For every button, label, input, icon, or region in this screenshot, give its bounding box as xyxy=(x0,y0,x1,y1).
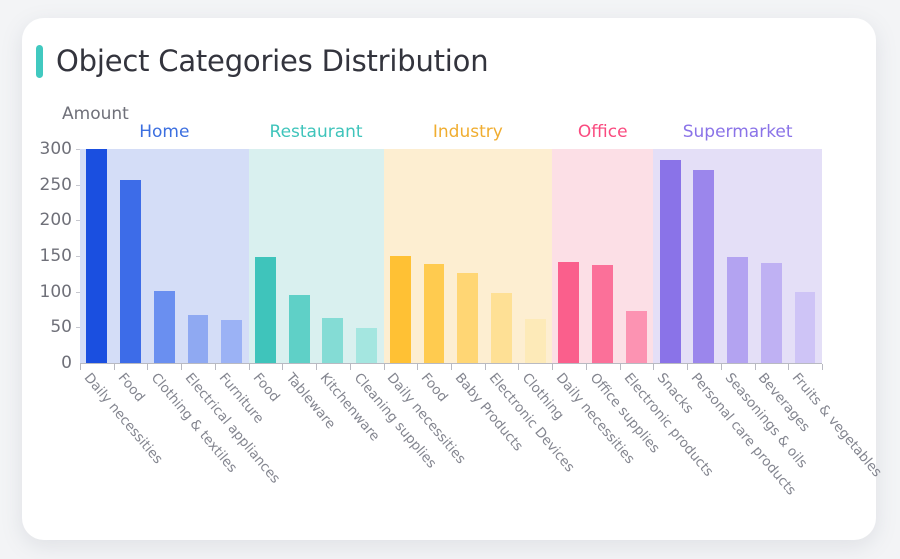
bar[interactable] xyxy=(626,311,647,363)
bar-slot[interactable] xyxy=(80,149,114,363)
bar[interactable] xyxy=(525,319,546,363)
bar[interactable] xyxy=(457,273,478,363)
bar-slot[interactable] xyxy=(350,149,384,363)
x-tick-label: Food xyxy=(114,370,147,405)
bar[interactable] xyxy=(693,170,714,363)
bar[interactable] xyxy=(390,256,411,363)
bar[interactable] xyxy=(289,295,310,363)
chart-area: Amount HomeRestaurantIndustryOfficeSuper… xyxy=(22,18,876,540)
bar[interactable] xyxy=(660,160,681,363)
bar-slot[interactable] xyxy=(249,149,283,363)
bar[interactable] xyxy=(761,263,782,363)
bar-slot[interactable] xyxy=(383,149,417,363)
bar-slot[interactable] xyxy=(282,149,316,363)
bar-slot[interactable] xyxy=(721,149,755,363)
bar[interactable] xyxy=(120,180,141,363)
bar-slot[interactable] xyxy=(451,149,485,363)
x-tick-label: Food xyxy=(249,370,282,405)
bar-slot[interactable] xyxy=(518,149,552,363)
bar[interactable] xyxy=(592,265,613,363)
plot-region xyxy=(80,149,822,363)
bar-slot[interactable] xyxy=(181,149,215,363)
bar-slot[interactable] xyxy=(788,149,822,363)
group-legend: HomeRestaurantIndustryOfficeSupermarket xyxy=(80,122,822,146)
bar-slot[interactable] xyxy=(147,149,181,363)
bar-slot[interactable] xyxy=(586,149,620,363)
group-label-office: Office xyxy=(552,122,653,142)
bar-slot[interactable] xyxy=(754,149,788,363)
bar[interactable] xyxy=(255,257,276,363)
y-tick-label: 100 xyxy=(22,282,72,302)
group-label-restaurant: Restaurant xyxy=(249,122,384,142)
bar-slot[interactable] xyxy=(620,149,654,363)
group-label-home: Home xyxy=(80,122,249,142)
bar-slot[interactable] xyxy=(552,149,586,363)
bar[interactable] xyxy=(558,262,579,363)
group-label-industry: Industry xyxy=(384,122,553,142)
bar-slot[interactable] xyxy=(215,149,249,363)
x-axis-tick-labels: Daily necessitiesFoodClothing & textiles… xyxy=(80,370,822,530)
bar-slot[interactable] xyxy=(316,149,350,363)
y-axis-tick-labels: 050100150200250300 xyxy=(22,149,72,363)
bar[interactable] xyxy=(322,318,343,363)
y-tick-label: 150 xyxy=(22,246,72,266)
bar-slot[interactable] xyxy=(114,149,148,363)
bar-slot[interactable] xyxy=(687,149,721,363)
bar[interactable] xyxy=(86,149,107,363)
bar-slot[interactable] xyxy=(485,149,519,363)
bar[interactable] xyxy=(188,315,209,363)
bar-slot[interactable] xyxy=(417,149,451,363)
y-tick-label: 50 xyxy=(22,317,72,337)
y-tick-label: 200 xyxy=(22,210,72,230)
bar[interactable] xyxy=(491,293,512,363)
y-axis-title: Amount xyxy=(62,104,129,124)
chart-card: Object Categories Distribution Amount Ho… xyxy=(22,18,876,540)
y-tick-label: 250 xyxy=(22,175,72,195)
bar-series xyxy=(80,149,822,363)
y-tick-label: 0 xyxy=(22,353,72,373)
x-tick-label: Food xyxy=(418,370,451,405)
bar[interactable] xyxy=(424,264,445,363)
x-tick xyxy=(822,364,823,370)
bar[interactable] xyxy=(154,291,175,363)
bar[interactable] xyxy=(356,328,377,363)
bar[interactable] xyxy=(727,257,748,363)
group-label-supermarket: Supermarket xyxy=(653,122,822,142)
bar-slot[interactable] xyxy=(653,149,687,363)
y-tick-label: 300 xyxy=(22,139,72,159)
bar[interactable] xyxy=(795,292,816,363)
bar[interactable] xyxy=(221,320,242,364)
